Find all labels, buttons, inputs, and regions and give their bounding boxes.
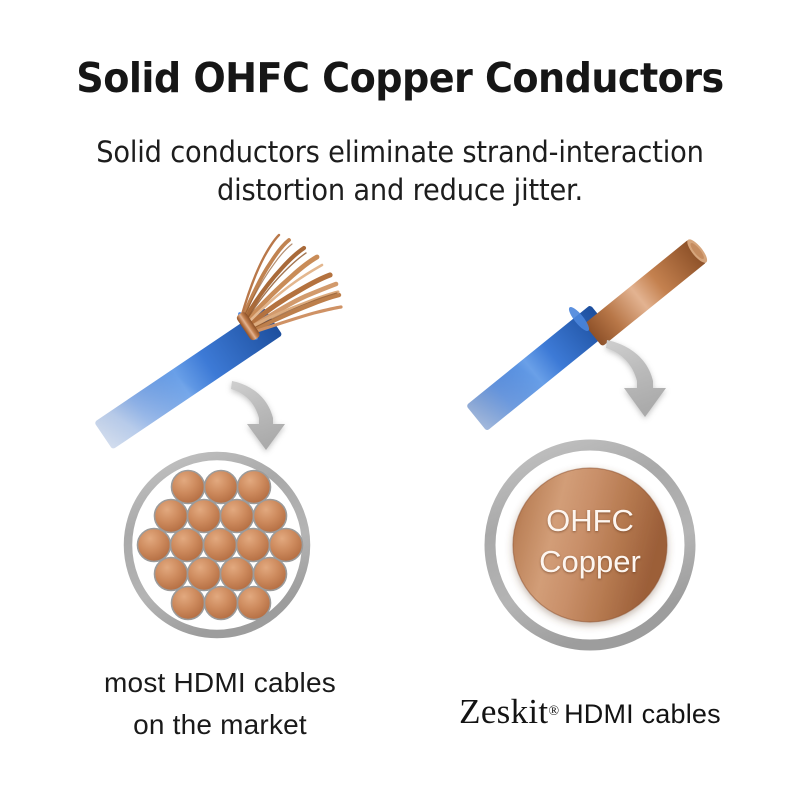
- left-cross-section: [128, 456, 306, 634]
- left-caption-line-2: on the market: [55, 704, 385, 746]
- left-stranded-cable: [94, 235, 341, 450]
- right-curved-down-arrow: [606, 340, 666, 417]
- right-cable-solid-conductor: [584, 237, 710, 347]
- right-solid-cable: [466, 237, 710, 432]
- zeskit-brand-wordmark: Zeskit: [459, 692, 548, 731]
- left-cable-frayed-strands: [241, 235, 341, 333]
- left-caption-line-1: most HDMI cables: [55, 662, 385, 704]
- right-caption: Zeskit®HDMI cables: [400, 692, 780, 734]
- right-caption-tail: HDMI cables: [564, 699, 721, 729]
- left-caption: most HDMI cables on the market: [55, 662, 385, 746]
- left-curved-down-arrow: [231, 381, 285, 450]
- registered-trademark-icon: ®: [548, 704, 559, 719]
- right-cross-section: [490, 445, 690, 645]
